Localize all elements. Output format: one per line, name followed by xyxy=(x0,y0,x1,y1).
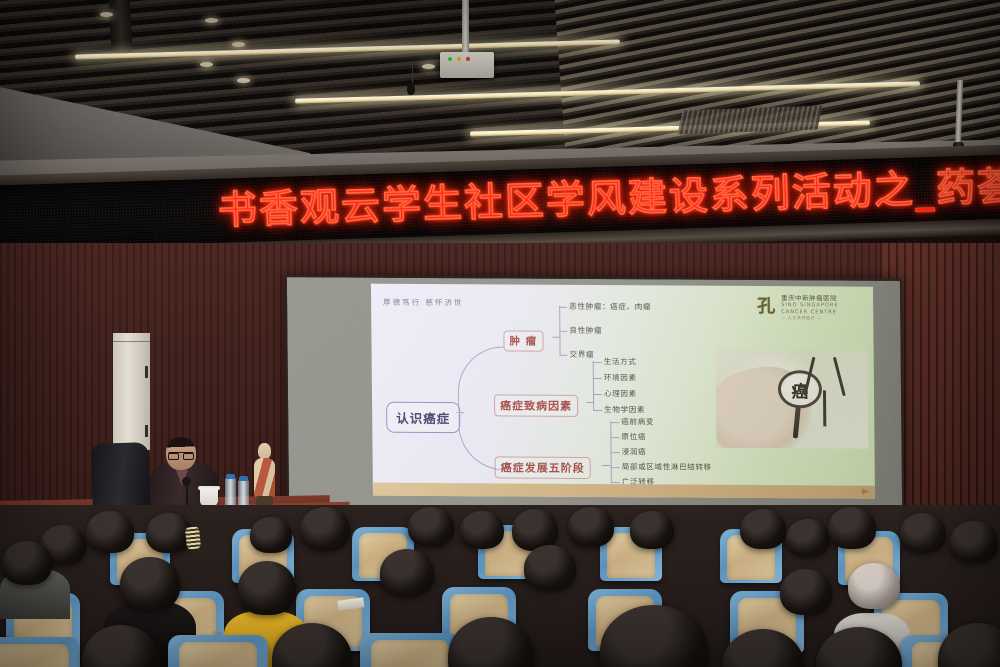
tea-cup xyxy=(200,488,218,506)
mindmap-connector xyxy=(552,337,560,338)
audience-area xyxy=(0,505,1000,667)
slide-footer-bar xyxy=(373,483,875,499)
presentation-slide: 厚德笃行 慈怀济世 孔 重庆中新肿瘤医院 SINO SINGAPORE CANC… xyxy=(371,284,875,499)
mindmap-connector xyxy=(611,482,620,483)
audience-head xyxy=(900,513,946,553)
mindmap-connector xyxy=(593,378,602,379)
mindmap-branch-tumor: 肿 瘤 xyxy=(503,330,543,351)
audience-head xyxy=(568,507,614,547)
seat[interactable] xyxy=(0,637,80,667)
model-torso xyxy=(254,458,275,498)
mindmap-leaf: 心理因素 xyxy=(604,390,637,398)
model-head xyxy=(258,443,271,459)
projector-lamp-led xyxy=(457,57,461,61)
projector-mount-rod xyxy=(462,0,469,55)
downlight-icon xyxy=(237,78,250,83)
mindmap-connector xyxy=(611,467,620,468)
mindmap-branch-causes: 癌症致病因素 xyxy=(494,394,578,417)
audience-head xyxy=(786,519,830,557)
mindmap-connector xyxy=(593,410,602,411)
door-top-trim xyxy=(113,341,150,342)
hair-clip xyxy=(185,526,201,549)
mindmap-leaf: 癌前病变 xyxy=(621,418,654,426)
mindmap-connector xyxy=(610,437,619,438)
mindmap-leaf: 局部或区域性淋巴结转移 xyxy=(622,463,712,471)
downlight-icon xyxy=(100,12,113,17)
hanging-mic-wire xyxy=(412,63,413,85)
slide-motto: 厚德笃行 慈怀济世 xyxy=(383,297,464,308)
seat[interactable] xyxy=(168,635,268,667)
hanging-microphone-icon xyxy=(407,83,415,95)
projector-temp-led xyxy=(466,57,470,61)
projection-screen: 厚德笃行 慈怀济世 孔 重庆中新肿瘤医院 SINO SINGAPORE CANC… xyxy=(285,275,904,513)
slide-photo-magnifier-cancer: 癌 xyxy=(716,350,869,449)
stethoscope-icon xyxy=(798,356,855,428)
mindmap-connector xyxy=(559,331,567,332)
mindmap-connector xyxy=(593,362,602,363)
downlight-icon xyxy=(205,18,218,23)
mindmap-connector xyxy=(586,402,594,403)
mindmap-leaf: 生物学因素 xyxy=(604,406,645,414)
audience-head xyxy=(460,511,504,549)
mindmap-connector xyxy=(559,307,567,308)
audience-head xyxy=(2,541,52,585)
audience-head xyxy=(780,569,832,615)
desk-microphone-icon xyxy=(182,477,191,486)
audience-head xyxy=(250,517,292,553)
audience-head xyxy=(828,507,876,549)
water-bottle-cap xyxy=(226,474,235,479)
audience-head xyxy=(86,511,134,553)
mindmap-leaf: 良性肿瘤 xyxy=(569,327,602,335)
mindmap-connector xyxy=(593,394,602,395)
mindmap-leaf: 恶性肿瘤：癌症、肉瘤 xyxy=(569,303,651,311)
anatomical-torso-model xyxy=(252,443,276,505)
audience-head xyxy=(380,549,434,597)
door-hinge-icon xyxy=(145,425,148,437)
downlight-icon xyxy=(200,62,213,67)
audience-head xyxy=(630,511,674,549)
lecture-hall-photo: 书香观云学生社区学风建设系列活动之_药荟大讲堂 厚德笃行 慈怀济世 孔 重庆中新… xyxy=(0,0,1000,667)
door-hinge-icon xyxy=(145,366,148,378)
mindmap-leaf: 原位癌 xyxy=(621,433,646,441)
mindmap-leaf: 交界瘤 xyxy=(570,351,595,359)
audience-head xyxy=(848,563,900,609)
seat-back-panel xyxy=(0,644,69,667)
seat-back-panel xyxy=(179,642,257,667)
stethoscope-stem xyxy=(823,390,826,426)
hospital-name-sub: — 人文关怀医疗 — xyxy=(781,315,838,320)
mindmap-leaf: 浸润癌 xyxy=(622,448,647,456)
audience-head xyxy=(950,521,998,563)
mindmap-branch-stages: 癌症发展五阶段 xyxy=(495,456,591,479)
mindmap-connector xyxy=(611,452,620,453)
hospital-logo-text: 重庆中新肿瘤医院 SINO SINGAPORE CANCER CENTRE — … xyxy=(781,294,839,320)
audience-head xyxy=(300,507,350,551)
hospital-logo: 孔 重庆中新肿瘤医院 SINO SINGAPORE CANCER CENTRE … xyxy=(755,292,865,323)
ceiling-beam xyxy=(108,0,132,53)
hospital-name-en1: SINO SINGAPORE xyxy=(781,302,838,309)
seat[interactable] xyxy=(360,633,460,667)
audience-head xyxy=(524,545,576,591)
water-bottle-cap xyxy=(239,476,248,481)
downlight-icon xyxy=(422,64,435,69)
audience-head xyxy=(238,561,296,615)
mindmap-connector xyxy=(602,465,611,466)
mindmap-root-node: 认识癌症 xyxy=(386,402,460,433)
eyeglasses-icon xyxy=(168,452,194,457)
air-vent-grille xyxy=(677,105,822,134)
mindmap-connector xyxy=(560,355,568,356)
downlight-icon xyxy=(232,42,245,47)
projector-power-led xyxy=(448,57,452,61)
mindmap-leaf: 生活方式 xyxy=(604,358,637,366)
audience-head xyxy=(408,507,454,547)
mindmap-connector xyxy=(593,361,594,411)
hospital-logo-mark-icon: 孔 xyxy=(755,294,777,320)
audience-head xyxy=(120,557,180,611)
audience-head xyxy=(740,509,786,549)
mindmap-leaf: 环境因素 xyxy=(604,374,637,382)
ceiling-projector xyxy=(440,52,494,78)
water-bottle xyxy=(225,477,236,507)
seat-back-panel xyxy=(371,640,449,667)
model-base xyxy=(256,496,273,505)
mindmap-connector xyxy=(610,422,619,423)
